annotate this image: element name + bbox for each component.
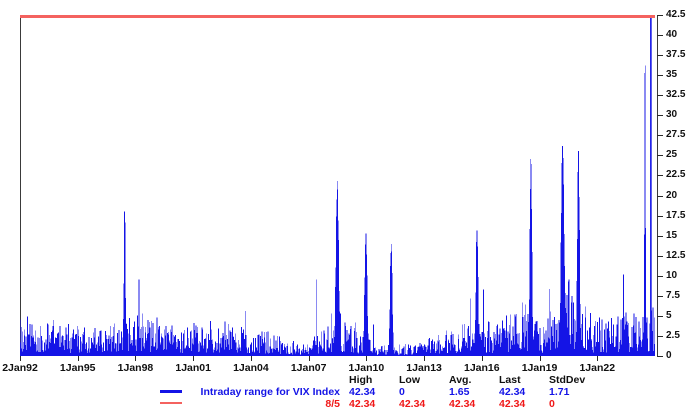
x-axis-label: 1Jan98 (118, 362, 154, 374)
x-axis-tick (482, 356, 483, 361)
series-intraday-range-vix (20, 15, 655, 356)
y-axis-tick (657, 55, 663, 56)
y-axis-label: 35 (666, 70, 677, 80)
x-axis-tick (366, 356, 367, 361)
legend-swatch-red (160, 399, 190, 411)
x-axis-tick (251, 356, 252, 361)
y-axis-right-line (657, 15, 658, 356)
y-axis-tick (657, 196, 663, 197)
legend-label-threshold: 8/5 (190, 399, 345, 411)
y-axis-tick (657, 296, 663, 297)
x-axis-label: 1Jan19 (522, 362, 558, 374)
y-axis-label: 37.5 (666, 50, 685, 60)
y-axis-label: 5 (666, 311, 672, 321)
y-axis-label: 20 (666, 191, 677, 201)
y-axis-tick (657, 115, 663, 116)
y-axis-label: 27.5 (666, 130, 685, 140)
y-axis-tick (657, 95, 663, 96)
y-axis-label: 22.5 (666, 170, 685, 180)
x-axis-tick (540, 356, 541, 361)
legend-swatch-blue (160, 387, 190, 399)
y-axis-tick (657, 336, 663, 337)
series-path-intraday-range (20, 65, 655, 356)
y-axis-label: 17.5 (666, 211, 685, 221)
x-axis-label: 2Jan92 (2, 362, 38, 374)
x-axis-label: 1Jan13 (406, 362, 442, 374)
legend-value-stddev-red: 0 (545, 399, 595, 411)
y-axis-label: 32.5 (666, 90, 685, 100)
y-axis-tick (657, 236, 663, 237)
x-axis-tick (309, 356, 310, 361)
x-axis-label: 1Jan01 (175, 362, 211, 374)
y-axis-tick (657, 216, 663, 217)
y-axis-tick (657, 316, 663, 317)
y-axis-label: 12.5 (666, 251, 685, 261)
y-axis-label: 0 (666, 351, 672, 361)
y-axis-tick (657, 35, 663, 36)
y-axis-label: 10 (666, 271, 677, 281)
legend-value-avg-red: 42.34 (445, 399, 495, 411)
legend-row-intraday-range[interactable]: Intraday range for VIX Index 42.34 0 1.6… (160, 387, 595, 399)
y-axis-tick (657, 256, 663, 257)
legend-row-threshold[interactable]: 8/5 42.34 42.34 42.34 42.34 0 (160, 399, 595, 411)
y-axis-label: 2.5 (666, 331, 680, 341)
x-axis-label: 1Jan04 (233, 362, 269, 374)
x-axis-label: 1Jan22 (579, 362, 615, 374)
x-axis-label: 1Jan07 (291, 362, 327, 374)
x-axis-tick (424, 356, 425, 361)
y-axis-label: 25 (666, 150, 677, 160)
x-axis-label: 1Jan10 (349, 362, 385, 374)
x-axis-tick (597, 356, 598, 361)
x-axis-tick (135, 356, 136, 361)
series-threshold-8-5 (20, 15, 655, 18)
y-axis-tick (657, 175, 663, 176)
x-axis-label: 1Jan16 (464, 362, 500, 374)
y-axis-tick (657, 135, 663, 136)
vix-intraday-range-chart: 02.557.51012.51517.52022.52527.53032.535… (0, 0, 700, 417)
legend-label-intraday-range: Intraday range for VIX Index (190, 387, 345, 399)
y-axis-label: 40 (666, 30, 677, 40)
y-axis-tick (657, 276, 663, 277)
legend-value-low-red: 42.34 (395, 399, 445, 411)
y-axis-label: 30 (666, 110, 677, 120)
x-axis-tick (193, 356, 194, 361)
y-axis-label: 42.5 (666, 10, 685, 20)
y-axis-label: 15 (666, 231, 677, 241)
y-axis-label: 7.5 (666, 291, 680, 301)
legend-value-last-red: 42.34 (495, 399, 545, 411)
legend-value-high-red: 42.34 (345, 399, 395, 411)
x-axis-tick (20, 356, 21, 361)
y-axis-tick (657, 155, 663, 156)
y-axis-tick (657, 75, 663, 76)
legend-header-spacer (160, 375, 190, 387)
y-axis-tick (657, 15, 663, 16)
chart-legend: High Low Avg. Last StdDev Intraday range… (160, 375, 595, 411)
x-axis-tick (78, 356, 79, 361)
x-axis-label: 1Jan95 (60, 362, 96, 374)
y-axis-tick (657, 356, 663, 357)
